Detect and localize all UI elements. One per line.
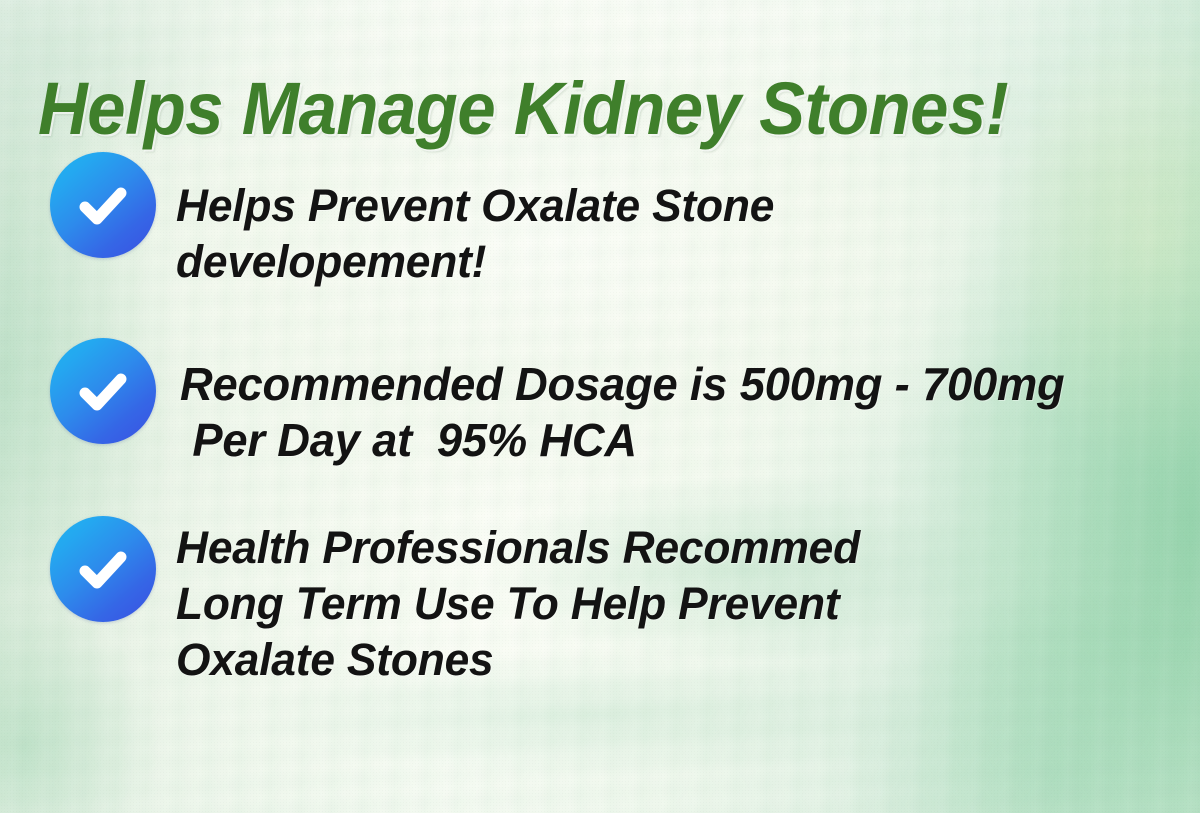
list-item-label: Recommended Dosage is 500mg - 700mg Per … [180,338,1185,468]
list-item-label: Health Professionals Recommed Long Term … [176,516,1185,688]
check-circle-icon [50,338,156,444]
check-circle-icon [50,516,156,622]
page-title: Helps Manage Kidney Stones! [38,72,1008,146]
list-item: Recommended Dosage is 500mg - 700mg Per … [0,338,1200,468]
list-item-label: Helps Prevent Oxalate Stone developement… [176,152,1185,290]
benefits-list: Helps Prevent Oxalate Stone developement… [0,146,1200,688]
check-circle-icon [50,152,156,258]
list-item: Helps Prevent Oxalate Stone developement… [0,152,1200,290]
kidney-stones-infographic: Helps Manage Kidney Stones! Helps Preven… [0,0,1200,813]
list-item: Health Professionals Recommed Long Term … [0,516,1200,688]
